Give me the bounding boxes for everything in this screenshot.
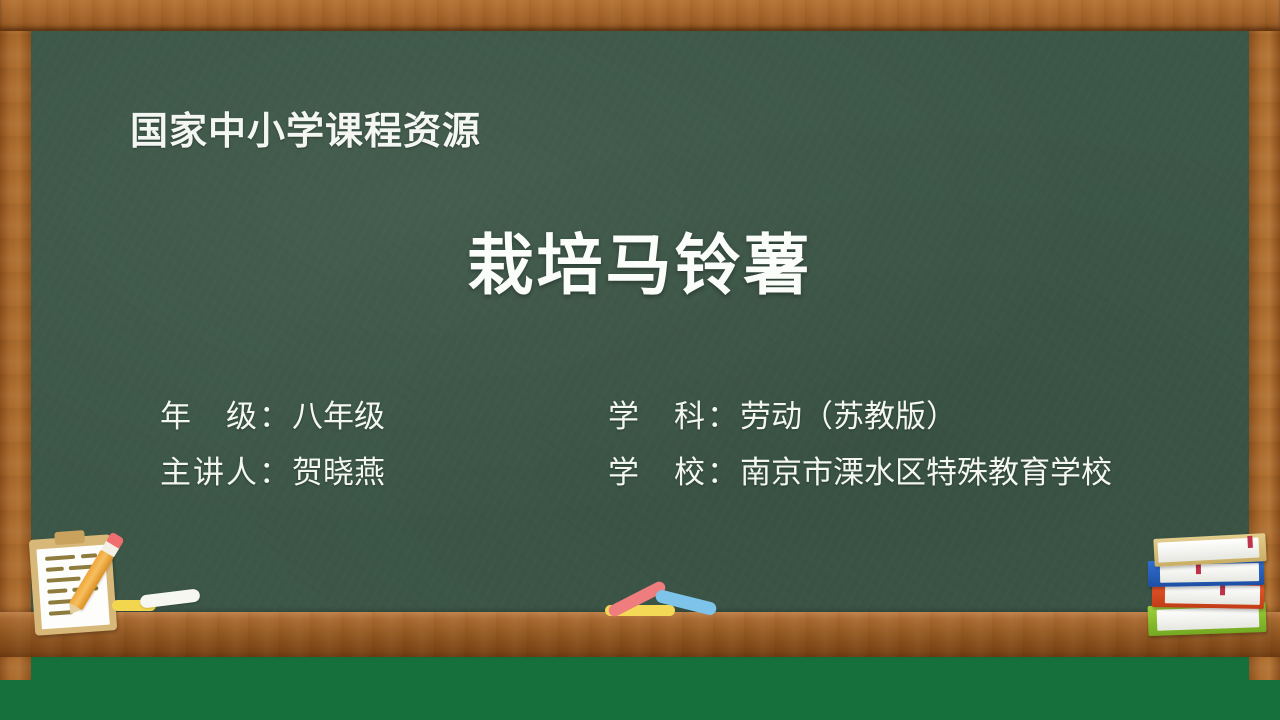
info-school: 学 校：南京市溧水区特殊教育学校 xyxy=(608,452,1112,494)
brand-title: 国家中小学课程资源 xyxy=(130,100,481,155)
info-grade: 年 级：八年级 xyxy=(160,396,608,438)
clipboard-clasp-icon xyxy=(54,530,85,545)
frame-top-wood xyxy=(0,0,1280,31)
info-lecturer-value: 贺晓燕 xyxy=(292,455,385,491)
info-lecturer: 主讲人：贺晓燕 xyxy=(160,452,608,494)
info-subject: 学 科：劳动（苏教版） xyxy=(608,396,957,438)
chalk-cluster-center xyxy=(600,588,710,618)
info-subject-label: 学 科： xyxy=(608,399,740,435)
chalk-ledge xyxy=(0,612,1280,657)
book-stack-icon xyxy=(1146,528,1270,640)
info-subject-value: 劳动（苏教版） xyxy=(740,399,957,435)
info-grade-value: 八年级 xyxy=(292,399,385,435)
info-lecturer-label: 主讲人： xyxy=(160,455,292,491)
bottom-green-band xyxy=(0,657,1280,720)
info-school-label: 学 校： xyxy=(608,455,740,491)
info-row: 年 级：八年级 学 科：劳动（苏教版） xyxy=(160,396,1240,438)
page-title: 栽培马铃薯 xyxy=(0,212,1280,308)
info-school-value: 南京市溧水区特殊教育学校 xyxy=(740,455,1112,491)
info-row: 主讲人：贺晓燕 学 校：南京市溧水区特殊教育学校 xyxy=(160,452,1240,494)
book-cream xyxy=(1153,533,1266,567)
lesson-info-block: 年 级：八年级 学 科：劳动（苏教版） 主讲人：贺晓燕 学 校：南京市溧水区特殊… xyxy=(160,396,1240,508)
lesson-title-slide: 国家中小学课程资源 栽培马铃薯 年 级：八年级 学 科：劳动（苏教版） 主讲人：… xyxy=(0,0,1280,720)
info-grade-label: 年 级： xyxy=(160,399,292,435)
clipboard-icon xyxy=(12,531,132,636)
